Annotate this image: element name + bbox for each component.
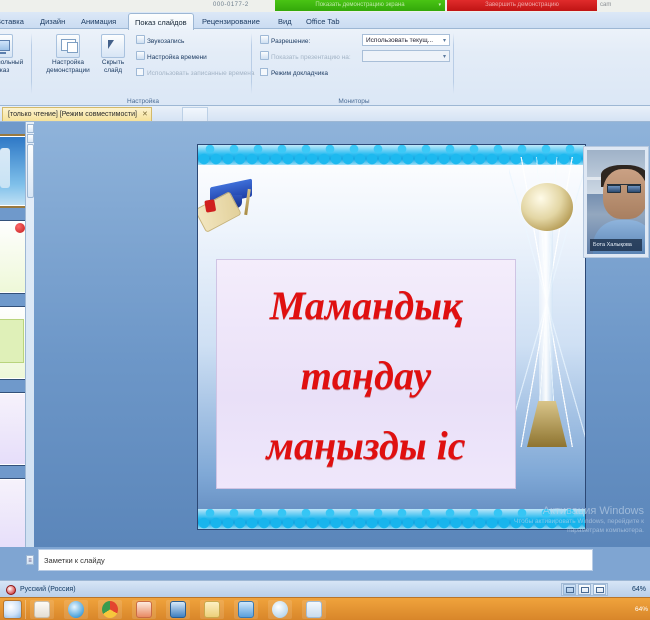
windows-taskbar: 64% bbox=[0, 597, 650, 620]
taskbar-app-pdf-reader[interactable] bbox=[30, 600, 54, 619]
scroll-down-icon[interactable] bbox=[27, 134, 34, 143]
webcam-video-feed: Бота Халықова bbox=[587, 150, 645, 254]
tab-view[interactable]: Вид bbox=[272, 14, 298, 29]
zoom-level[interactable]: 64% bbox=[632, 581, 646, 598]
monitor-icon bbox=[0, 34, 13, 58]
thumbnail-tower-art bbox=[0, 148, 10, 188]
presenter-view-checkbox[interactable]: Режим докладчика bbox=[260, 67, 328, 80]
slide-thumbnail-2[interactable] bbox=[0, 220, 28, 294]
slide-background: Мамандық таңдау маңызды іс bbox=[198, 145, 585, 529]
setup-show-button[interactable]: Настройка демонстрации bbox=[42, 31, 94, 74]
webcam-tile[interactable]: Бота Халықова bbox=[583, 146, 649, 258]
resolution-label: Разрешение: bbox=[271, 38, 310, 45]
slide-thumbnail-pane[interactable] bbox=[0, 122, 34, 547]
participant-name: Бота Халықова bbox=[590, 239, 642, 251]
chevron-down-icon[interactable]: ▾ bbox=[438, 0, 441, 11]
notes-pane: ≡ Заметки к слайду bbox=[0, 547, 650, 580]
rehearse-timings-label: Настройка времени bbox=[147, 54, 207, 61]
ribbon-tabstrip: Вставка Дизайн Анимация Показ слайдов Ре… bbox=[0, 12, 650, 29]
group-label-setup: Настройка bbox=[34, 98, 252, 105]
thumbnail-accent-art bbox=[15, 223, 25, 233]
taskbar-app-video-conference[interactable] bbox=[234, 600, 258, 619]
tab-review[interactable]: Рецензирование bbox=[196, 14, 266, 29]
scroll-up-icon[interactable] bbox=[27, 124, 34, 133]
taskbar-app-file-explorer[interactable] bbox=[200, 600, 224, 619]
slide-title-line-3: маңызды іс bbox=[217, 411, 515, 481]
taskbar-app-google-chrome[interactable] bbox=[98, 600, 122, 619]
document-tabbar: [только чтение] [Режим совместимости] ✕ bbox=[0, 106, 650, 122]
taskbar-app-word[interactable] bbox=[166, 600, 190, 619]
resolution-icon bbox=[260, 35, 269, 44]
tab-office-tab[interactable]: Office Tab bbox=[300, 14, 346, 29]
checkbox-icon[interactable] bbox=[136, 68, 144, 76]
tab-animation[interactable]: Анимация bbox=[75, 14, 122, 29]
checkbox-icon[interactable] bbox=[260, 68, 268, 76]
hide-slide-button[interactable]: Скрыть слайд bbox=[96, 31, 130, 74]
hide-slide-icon bbox=[101, 34, 125, 58]
notes-resize-handle[interactable]: ≡ bbox=[26, 555, 34, 565]
glasses-icon bbox=[607, 184, 641, 192]
ribbon-group-monitors: Разрешение: Показать презентацию на: Реж… bbox=[254, 29, 454, 106]
view-mode-buttons[interactable] bbox=[561, 583, 608, 596]
rehearse-timings-item[interactable]: Настройка времени bbox=[136, 51, 207, 64]
slide-thumbnail-1[interactable] bbox=[0, 134, 28, 208]
meeting-code: 000-0177-2 bbox=[213, 0, 249, 11]
taskbar-app-extra[interactable] bbox=[302, 600, 326, 619]
close-icon[interactable]: ✕ bbox=[142, 108, 148, 121]
share-screen-button[interactable]: Показать демонстрацию экрана ▾ bbox=[275, 0, 445, 11]
ribbon: Вставка Дизайн Анимация Показ слайдов Ре… bbox=[0, 12, 650, 106]
slide-thumbnail-3[interactable] bbox=[0, 306, 28, 380]
microphone-icon bbox=[136, 35, 145, 44]
taskbar-app-internet-explorer[interactable] bbox=[64, 600, 88, 619]
taskbar-app-media-player[interactable] bbox=[268, 600, 292, 619]
slide-title-box[interactable]: Мамандық таңдау маңызды іс bbox=[216, 259, 516, 489]
setup-show-label: Настройка демонстрации bbox=[42, 59, 94, 74]
participant-face bbox=[603, 169, 645, 219]
watermark-title: Активация Windows bbox=[484, 505, 644, 517]
use-recorded-timings-label: Использовать записанные времена bbox=[147, 70, 255, 77]
thumbnail-band-art bbox=[0, 319, 24, 363]
custom-show-button[interactable]: Произвольный показ bbox=[0, 31, 24, 74]
slide-title-line-2: таңдау bbox=[217, 341, 515, 411]
slide-canvas[interactable]: Мамандық таңдау маңызды іс bbox=[198, 145, 585, 529]
taskbar-app-powerpoint[interactable] bbox=[132, 600, 156, 619]
slide-thumbnail-4[interactable] bbox=[0, 392, 28, 466]
record-narration-item[interactable]: Звукозапись bbox=[136, 35, 184, 48]
start-button[interactable] bbox=[3, 600, 22, 619]
spellcheck-icon[interactable] bbox=[6, 585, 16, 595]
group-separator bbox=[453, 33, 454, 94]
group-separator bbox=[251, 33, 252, 94]
document-tab-new[interactable] bbox=[182, 107, 208, 121]
view-slideshow-button[interactable] bbox=[593, 584, 606, 595]
thumbnail-scrollbar[interactable] bbox=[25, 122, 34, 547]
notes-input[interactable]: Заметки к слайду bbox=[38, 549, 593, 571]
taskbar-tray[interactable]: 64% bbox=[635, 598, 648, 620]
watermark-subtitle: Чтобы активировать Windows, перейдите к … bbox=[484, 518, 644, 535]
windows-activation-watermark: Активация Windows Чтобы активировать Win… bbox=[484, 505, 644, 535]
document-tab[interactable]: [только чтение] [Режим совместимости] ✕ bbox=[2, 107, 152, 121]
scrollbar-thumb[interactable] bbox=[27, 144, 34, 198]
slide-thumbnail-5[interactable] bbox=[0, 478, 28, 552]
resolution-value: Использовать текущ... bbox=[366, 37, 433, 44]
record-narration-label: Звукозапись bbox=[147, 38, 184, 45]
ribbon-group-start-show: Произвольный показ bbox=[0, 29, 32, 106]
status-bar: Русский (Россия) 64% bbox=[0, 580, 650, 597]
thumbnail-preview bbox=[0, 480, 26, 550]
tab-insert[interactable]: Вставка bbox=[0, 14, 30, 29]
resolution-item[interactable]: Разрешение: bbox=[260, 35, 310, 48]
setup-show-icon bbox=[56, 34, 80, 58]
ribbon-body: Произвольный показ Настройка демонстраци… bbox=[0, 29, 650, 106]
ribbon-group-setup: Настройка демонстрации Скрыть слайд Звук… bbox=[34, 29, 252, 106]
conference-right-label: cam bbox=[600, 0, 611, 11]
use-recorded-timings-checkbox[interactable]: Использовать записанные времена bbox=[136, 67, 255, 80]
hide-slide-label: Скрыть слайд bbox=[96, 59, 130, 74]
thumbnail-preview bbox=[0, 394, 26, 464]
document-tab-label: [только чтение] [Режим совместимости] bbox=[8, 111, 137, 118]
chevron-down-icon[interactable]: ▾ bbox=[443, 35, 446, 46]
group-separator bbox=[31, 33, 32, 94]
show-presentation-on-item[interactable]: Показать презентацию на: bbox=[260, 51, 351, 64]
slide-title-line-1: Мамандық bbox=[217, 271, 515, 341]
presenter-view-label: Режим докладчика bbox=[271, 70, 328, 77]
display-dropdown[interactable]: ▾ bbox=[362, 50, 450, 62]
timing-icon bbox=[136, 51, 145, 60]
editor-workspace: Мамандық таңдау маңызды іс Активация Win… bbox=[0, 122, 650, 547]
language-indicator[interactable]: Русский (Россия) bbox=[20, 581, 76, 598]
group-label-monitors: Мониторы bbox=[254, 98, 454, 105]
chevron-down-icon[interactable]: ▾ bbox=[443, 51, 446, 62]
display-icon bbox=[260, 51, 269, 60]
custom-show-label: Произвольный показ bbox=[0, 59, 24, 74]
tab-design[interactable]: Дизайн bbox=[34, 14, 71, 29]
share-screen-label: Показать демонстрацию экрана bbox=[315, 2, 404, 8]
tab-slideshow[interactable]: Показ слайдов bbox=[128, 13, 194, 30]
view-slide-sorter-button[interactable] bbox=[578, 584, 591, 595]
taskbar-divider bbox=[25, 600, 26, 619]
resolution-dropdown[interactable]: Использовать текущ... ▾ bbox=[362, 34, 450, 46]
stop-share-button[interactable]: Завершить демонстрацию bbox=[447, 0, 597, 11]
view-normal-button[interactable] bbox=[563, 584, 576, 595]
conference-toolbar: 000-0177-2 Показать демонстрацию экрана … bbox=[0, 0, 650, 12]
show-presentation-on-label: Показать презентацию на: bbox=[271, 54, 351, 61]
